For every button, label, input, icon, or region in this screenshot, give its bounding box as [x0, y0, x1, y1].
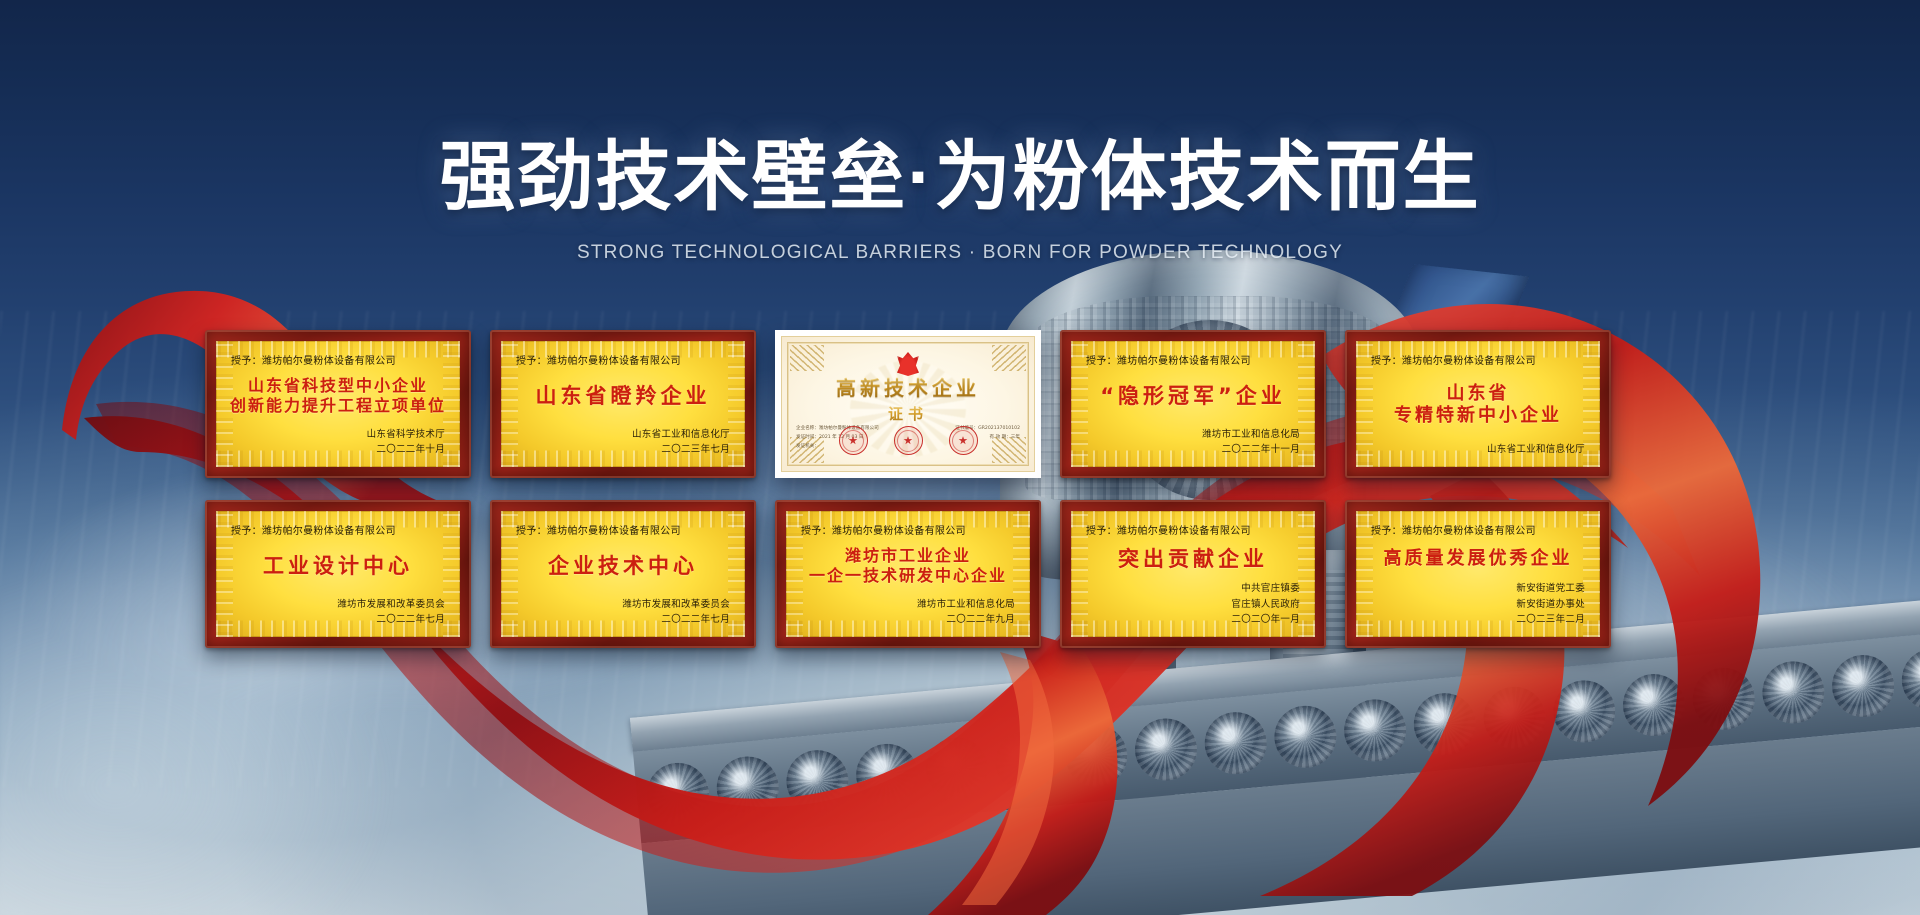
award-recipient: 授予：潍坊帕尔曼粉体设备有限公司 [231, 522, 445, 537]
flame-emblem-icon [897, 352, 919, 376]
plaque-gold-plate: 授予：潍坊帕尔曼粉体设备有限公司山东省科技型中小企业创新能力提升工程立项单位山东… [216, 341, 460, 467]
award-title-line: 突出贡献企业 [1118, 547, 1268, 572]
award-plaque[interactable]: 授予：潍坊帕尔曼粉体设备有限公司企业技术中心潍坊市发展和改革委员会二〇二二年七月 [490, 500, 756, 648]
frieze-rosette-icon [1272, 703, 1339, 770]
award-plaque[interactable]: 授予：潍坊帕尔曼粉体设备有限公司“隐形冠军”企业潍坊市工业和信息化局二〇二二年十… [1060, 330, 1326, 478]
award-cell[interactable]: 授予：潍坊帕尔曼粉体设备有限公司山东省专精特新中小企业山东省工业和信息化厅 [1345, 330, 1611, 478]
award-issuer-line: 潍坊市工业和信息化局 [801, 597, 1015, 613]
award-title-line: “隐形冠军”企业 [1100, 384, 1286, 409]
award-issuer: 潍坊市发展和改革委员会二〇二二年七月 [231, 597, 445, 628]
frieze-rosette-icon [1690, 665, 1757, 732]
award-grid: 授予：潍坊帕尔曼粉体设备有限公司山东省科技型中小企业创新能力提升工程立项单位山东… [205, 330, 1725, 648]
award-issuer-line: 新安街道办事处 [1371, 597, 1585, 613]
award-issuer: 潍坊市工业和信息化局二〇二二年十一月 [1086, 427, 1300, 458]
plaque-text: 授予：潍坊帕尔曼粉体设备有限公司山东省瞪羚企业山东省工业和信息化厅二〇二三年七月 [501, 341, 745, 467]
award-cell[interactable]: 授予：潍坊帕尔曼粉体设备有限公司工业设计中心潍坊市发展和改革委员会二〇二二年七月 [205, 500, 471, 648]
award-issuer-line: 潍坊市发展和改革委员会 [516, 597, 730, 613]
plaque-gold-plate: 授予：潍坊帕尔曼粉体设备有限公司企业技术中心潍坊市发展和改革委员会二〇二二年七月 [501, 511, 745, 637]
frieze-rosette-icon [714, 754, 781, 821]
plaque-gold-plate: 授予：潍坊帕尔曼粉体设备有限公司工业设计中心潍坊市发展和改革委员会二〇二二年七月 [216, 511, 460, 637]
frieze-rosette-icon [923, 735, 990, 802]
award-title-line: 高质量发展优秀企业 [1384, 548, 1573, 569]
award-title-line: 潍坊市工业企业 [845, 547, 971, 566]
award-issuer-line: 二〇二二年七月 [516, 612, 730, 628]
award-plaque[interactable]: 授予：潍坊帕尔曼粉体设备有限公司高质量发展优秀企业新安街道党工委新安街道办事处二… [1345, 500, 1611, 648]
award-issuer: 潍坊市工业和信息化局二〇二二年九月 [801, 597, 1015, 628]
award-title-line: 创新能力提升工程立项单位 [230, 397, 446, 416]
page-subtitle: STRONG TECHNOLOGICAL BARRIERS · BORN FOR… [0, 242, 1920, 264]
award-title-line: 山东省科技型中小企业 [248, 377, 428, 396]
award-title-line: 工业设计中心 [263, 554, 413, 579]
award-issuer-line: 山东省工业和信息化厅 [516, 427, 730, 443]
seal-finance [894, 426, 923, 455]
award-title: 企业技术中心 [516, 537, 730, 597]
frieze-rosette-icon [993, 728, 1060, 795]
frieze-rosette-icon [1202, 709, 1269, 776]
award-issuer: 山东省工业和信息化厅 [1371, 442, 1585, 458]
frieze-rosette-icon [853, 741, 920, 808]
award-title-line: 山东省瞪羚企业 [536, 384, 711, 409]
award-issuer: 山东省工业和信息化厅二〇二三年七月 [516, 427, 730, 458]
plaque-gold-plate: 授予：潍坊帕尔曼粉体设备有限公司山东省专精特新中小企业山东省工业和信息化厅 [1356, 341, 1600, 467]
plaque-text: 授予：潍坊帕尔曼粉体设备有限公司“隐形冠军”企业潍坊市工业和信息化局二〇二二年十… [1071, 341, 1315, 467]
award-title: 潍坊市工业企业一企一技术研发中心企业 [801, 537, 1015, 597]
award-cell[interactable]: 授予：潍坊帕尔曼粉体设备有限公司山东省科技型中小企业创新能力提升工程立项单位山东… [205, 330, 471, 478]
award-cell[interactable]: 授予：潍坊帕尔曼粉体设备有限公司企业技术中心潍坊市发展和改革委员会二〇二二年七月 [490, 500, 756, 648]
seal-science-tech [839, 426, 868, 455]
award-issuer-line: 官庄镇人民政府 [1086, 597, 1300, 613]
award-plaque[interactable]: 授予：潍坊帕尔曼粉体设备有限公司工业设计中心潍坊市发展和改革委员会二〇二二年七月 [205, 500, 471, 648]
award-issuer-line: 二〇二二年九月 [801, 612, 1015, 628]
award-issuer-line: 潍坊市工业和信息化局 [1086, 427, 1300, 443]
frieze-rosette-icon [784, 747, 851, 814]
award-plaque[interactable]: 授予：潍坊帕尔曼粉体设备有限公司山东省瞪羚企业山东省工业和信息化厅二〇二三年七月 [490, 330, 756, 478]
award-issuer-line: 二〇二二年十一月 [1086, 442, 1300, 458]
banner-headings: 强劲技术壁垒·为粉体技术而生 STRONG TECHNOLOGICAL BARR… [0, 0, 1920, 264]
plaque-gold-plate: 授予：潍坊帕尔曼粉体设备有限公司突出贡献企业中共官庄镇委官庄镇人民政府二〇二〇年… [1071, 511, 1315, 637]
certificate-seals [782, 426, 1034, 455]
banner-stage: 强劲技术壁垒·为粉体技术而生 STRONG TECHNOLOGICAL BARR… [0, 0, 1920, 915]
award-issuer: 新安街道党工委新安街道办事处二〇二三年二月 [1371, 581, 1585, 628]
frieze-rosette-icon [644, 760, 711, 827]
plaque-gold-plate: 授予：潍坊帕尔曼粉体设备有限公司高质量发展优秀企业新安街道党工委新安街道办事处二… [1356, 511, 1600, 637]
award-cell[interactable]: 授予：潍坊帕尔曼粉体设备有限公司“隐形冠军”企业潍坊市工业和信息化局二〇二二年十… [1060, 330, 1326, 478]
award-cell[interactable]: 高新技术企业证书企业名称：潍坊帕尔曼粉体设备有限公司证书编号：GR2021370… [775, 330, 1041, 478]
award-issuer-line: 二〇二三年二月 [1371, 612, 1585, 628]
plaque-text: 授予：潍坊帕尔曼粉体设备有限公司山东省专精特新中小企业山东省工业和信息化厅 [1356, 341, 1600, 467]
plaque-gold-plate: 授予：潍坊帕尔曼粉体设备有限公司山东省瞪羚企业山东省工业和信息化厅二〇二三年七月 [501, 341, 745, 467]
award-plaque[interactable]: 授予：潍坊帕尔曼粉体设备有限公司突出贡献企业中共官庄镇委官庄镇人民政府二〇二〇年… [1060, 500, 1326, 648]
award-title: 高质量发展优秀企业 [1371, 537, 1585, 581]
page-title: 强劲技术壁垒·为粉体技术而生 [0, 0, 1920, 216]
frieze-rosette-icon [1132, 716, 1199, 783]
award-issuer-line: 二〇二〇年一月 [1086, 612, 1300, 628]
award-cell[interactable]: 授予：潍坊帕尔曼粉体设备有限公司潍坊市工业企业一企一技术研发中心企业潍坊市工业和… [775, 500, 1041, 648]
award-recipient: 授予：潍坊帕尔曼粉体设备有限公司 [1086, 522, 1300, 537]
award-title: 工业设计中心 [231, 537, 445, 597]
high-tech-enterprise-certificate[interactable]: 高新技术企业证书企业名称：潍坊帕尔曼粉体设备有限公司证书编号：GR2021370… [775, 330, 1041, 478]
frieze-rosette-icon [1411, 690, 1478, 757]
award-issuer-line: 山东省科学技术厅 [231, 427, 445, 443]
award-issuer-line: 中共官庄镇委 [1086, 581, 1300, 597]
award-issuer: 山东省科学技术厅二〇二二年十月 [231, 427, 445, 458]
award-plaque[interactable]: 授予：潍坊帕尔曼粉体设备有限公司潍坊市工业企业一企一技术研发中心企业潍坊市工业和… [775, 500, 1041, 648]
award-issuer-line: 二〇二三年七月 [516, 442, 730, 458]
award-title: “隐形冠军”企业 [1086, 367, 1300, 427]
frieze-rosette-icon [1829, 652, 1896, 719]
frieze-rosette-icon [1899, 646, 1920, 713]
award-title-line: 企业技术中心 [548, 554, 698, 579]
corner-ornament-icon [992, 345, 1026, 371]
award-issuer: 潍坊市发展和改革委员会二〇二二年七月 [516, 597, 730, 628]
frieze-rosette-icon [1620, 671, 1687, 738]
certificate-title: 高新技术企业 [782, 377, 1034, 399]
award-title: 山东省瞪羚企业 [516, 367, 730, 427]
award-recipient: 授予：潍坊帕尔曼粉体设备有限公司 [801, 522, 1015, 537]
seal-taxation [949, 426, 978, 455]
certificate-inner: 高新技术企业证书企业名称：潍坊帕尔曼粉体设备有限公司证书编号：GR2021370… [781, 336, 1035, 472]
plaque-text: 授予：潍坊帕尔曼粉体设备有限公司突出贡献企业中共官庄镇委官庄镇人民政府二〇二〇年… [1071, 511, 1315, 637]
award-title: 山东省专精特新中小企业 [1371, 367, 1585, 442]
plaque-text: 授予：潍坊帕尔曼粉体设备有限公司高质量发展优秀企业新安街道党工委新安街道办事处二… [1356, 511, 1600, 637]
award-cell[interactable]: 授予：潍坊帕尔曼粉体设备有限公司高质量发展优秀企业新安街道党工委新安街道办事处二… [1345, 500, 1611, 648]
plaque-text: 授予：潍坊帕尔曼粉体设备有限公司企业技术中心潍坊市发展和改革委员会二〇二二年七月 [501, 511, 745, 637]
award-plaque[interactable]: 授予：潍坊帕尔曼粉体设备有限公司山东省专精特新中小企业山东省工业和信息化厅 [1345, 330, 1611, 478]
award-cell[interactable]: 授予：潍坊帕尔曼粉体设备有限公司突出贡献企业中共官庄镇委官庄镇人民政府二〇二〇年… [1060, 500, 1326, 648]
award-recipient: 授予：潍坊帕尔曼粉体设备有限公司 [516, 352, 730, 367]
award-issuer-line: 二〇二二年七月 [231, 612, 445, 628]
award-plaque[interactable]: 授予：潍坊帕尔曼粉体设备有限公司山东省科技型中小企业创新能力提升工程立项单位山东… [205, 330, 471, 478]
award-cell[interactable]: 授予：潍坊帕尔曼粉体设备有限公司山东省瞪羚企业山东省工业和信息化厅二〇二三年七月 [490, 330, 756, 478]
award-issuer-line: 二〇二二年十月 [231, 442, 445, 458]
award-recipient: 授予：潍坊帕尔曼粉体设备有限公司 [1371, 352, 1585, 367]
award-issuer: 中共官庄镇委官庄镇人民政府二〇二〇年一月 [1086, 581, 1300, 628]
frieze-rosette-icon [1481, 684, 1548, 751]
plaque-gold-plate: 授予：潍坊帕尔曼粉体设备有限公司“隐形冠军”企业潍坊市工业和信息化局二〇二二年十… [1071, 341, 1315, 467]
plaque-text: 授予：潍坊帕尔曼粉体设备有限公司潍坊市工业企业一企一技术研发中心企业潍坊市工业和… [786, 511, 1030, 637]
award-title: 突出贡献企业 [1086, 537, 1300, 581]
award-title-line: 专精特新中小企业 [1394, 405, 1562, 426]
award-title-line: 一企一技术研发中心企业 [809, 567, 1007, 586]
award-recipient: 授予：潍坊帕尔曼粉体设备有限公司 [1371, 522, 1585, 537]
award-recipient: 授予：潍坊帕尔曼粉体设备有限公司 [516, 522, 730, 537]
award-title-line: 山东省 [1447, 383, 1510, 404]
award-issuer-line: 新安街道党工委 [1371, 581, 1585, 597]
award-recipient: 授予：潍坊帕尔曼粉体设备有限公司 [1086, 352, 1300, 367]
award-issuer-line: 山东省工业和信息化厅 [1371, 442, 1585, 458]
frieze-rosette-icon [1551, 678, 1618, 745]
frieze-rosette-icon [1760, 659, 1827, 726]
frieze-rosette-icon [1063, 722, 1130, 789]
corner-ornament-icon [790, 345, 824, 371]
certificate-subtitle: 证书 [782, 403, 1034, 424]
plaque-text: 授予：潍坊帕尔曼粉体设备有限公司山东省科技型中小企业创新能力提升工程立项单位山东… [216, 341, 460, 467]
plaque-text: 授予：潍坊帕尔曼粉体设备有限公司工业设计中心潍坊市发展和改革委员会二〇二二年七月 [216, 511, 460, 637]
frieze-rosette-icon [1341, 697, 1408, 764]
award-issuer-line: 潍坊市发展和改革委员会 [231, 597, 445, 613]
award-title: 山东省科技型中小企业创新能力提升工程立项单位 [231, 367, 445, 427]
plaque-gold-plate: 授予：潍坊帕尔曼粉体设备有限公司潍坊市工业企业一企一技术研发中心企业潍坊市工业和… [786, 511, 1030, 637]
award-recipient: 授予：潍坊帕尔曼粉体设备有限公司 [231, 352, 445, 367]
